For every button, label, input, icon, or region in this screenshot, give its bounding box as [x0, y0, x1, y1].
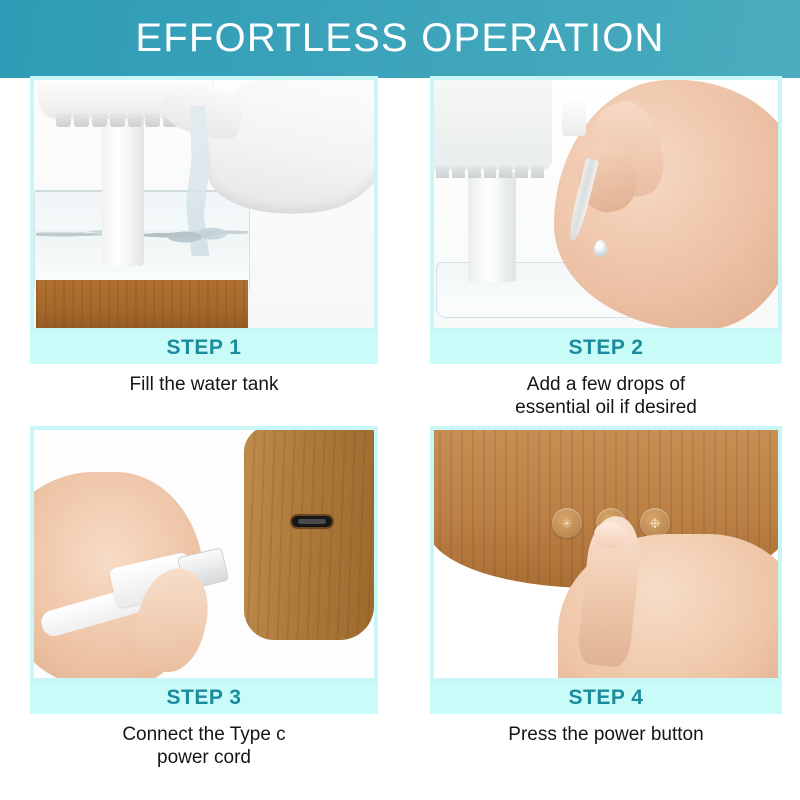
step-1-band: STEP 1 [30, 332, 378, 364]
step-card-3: STEP 3 Connect the Type c power cord [30, 426, 378, 776]
step-4-caption: Press the power button [430, 714, 782, 746]
mist-outlet-teeth [436, 166, 544, 178]
water-splash [162, 220, 238, 254]
step-card-4: ✳ ❉ STEP 4 Press the power button [430, 426, 782, 776]
humidifier-stem [102, 116, 144, 266]
step-4-photo-press-button: ✳ ❉ [434, 430, 778, 678]
step-1-photo-pour-water [34, 80, 374, 328]
step-1-label: STEP 1 [167, 336, 242, 360]
step-3-label: STEP 3 [167, 686, 242, 710]
step-3-caption: Connect the Type c power cord [30, 714, 378, 769]
step-4-band: STEP 4 [430, 682, 782, 714]
step-card-1: STEP 1 Fill the water tank [30, 76, 378, 426]
step-3-photo-frame [30, 426, 378, 682]
humidifier-stem [468, 172, 516, 282]
steps-grid: STEP 1 Fill the water tank [0, 76, 800, 800]
humidifier-wood-base [244, 430, 374, 640]
mist-button-icon: ✳ [552, 508, 582, 538]
step-2-band: STEP 2 [430, 332, 782, 364]
dropper-bulb [562, 96, 586, 136]
step-4-label: STEP 4 [569, 686, 644, 710]
step-3-photo-connect-cable [34, 430, 374, 678]
step-2-photo-frame [430, 76, 782, 332]
step-2-label: STEP 2 [569, 336, 644, 360]
humidifier-top-cap [434, 80, 552, 170]
step-1-caption: Fill the water tank [30, 364, 378, 396]
wood-base [36, 280, 248, 328]
step-4-photo-frame: ✳ ❉ [430, 426, 782, 682]
page-title: EFFORTLESS OPERATION [0, 0, 800, 76]
step-1-photo-frame [30, 76, 378, 332]
usb-c-port-inner [298, 519, 326, 524]
step-2-photo-add-oil [434, 80, 778, 328]
step-3-band: STEP 3 [30, 682, 378, 714]
step-2-caption: Add a few drops of essential oil if desi… [430, 364, 782, 419]
oil-droplet [594, 240, 607, 257]
step-card-2: STEP 2 Add a few drops of essential oil … [430, 76, 782, 426]
